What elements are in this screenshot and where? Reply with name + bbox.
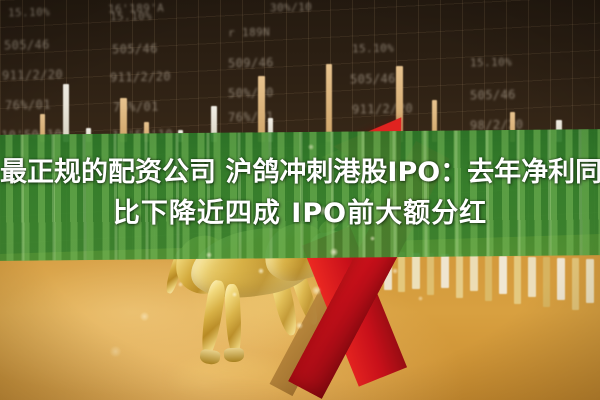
- bokeh-dot: [258, 268, 264, 274]
- bokeh-dot: [140, 312, 149, 321]
- bokeh-dot: [296, 322, 303, 329]
- bokeh-dot: [392, 268, 398, 274]
- bokeh-dot: [330, 248, 338, 256]
- bokeh-dot: [110, 346, 121, 357]
- news-thumbnail-image: 15.10%505/46911/2/2076%/0110'50'1016'189…: [0, 0, 600, 400]
- headline-line-2: 比下降近四成 IPO前大额分红: [0, 193, 600, 234]
- bokeh-dot: [418, 296, 423, 301]
- bokeh-dot: [178, 282, 183, 287]
- bokeh-dot: [232, 292, 237, 297]
- bokeh-dot: [308, 144, 314, 150]
- headline-line-1: 最正规的配资公司 沪鸽冲刺港股IPO：去年净利同: [0, 152, 600, 193]
- bokeh-dot: [370, 236, 375, 241]
- headline-text: 最正规的配资公司 沪鸽冲刺港股IPO：去年净利同 比下降近四成 IPO前大额分红: [0, 152, 600, 234]
- bokeh-dot: [312, 286, 321, 295]
- bokeh-dot: [206, 252, 212, 258]
